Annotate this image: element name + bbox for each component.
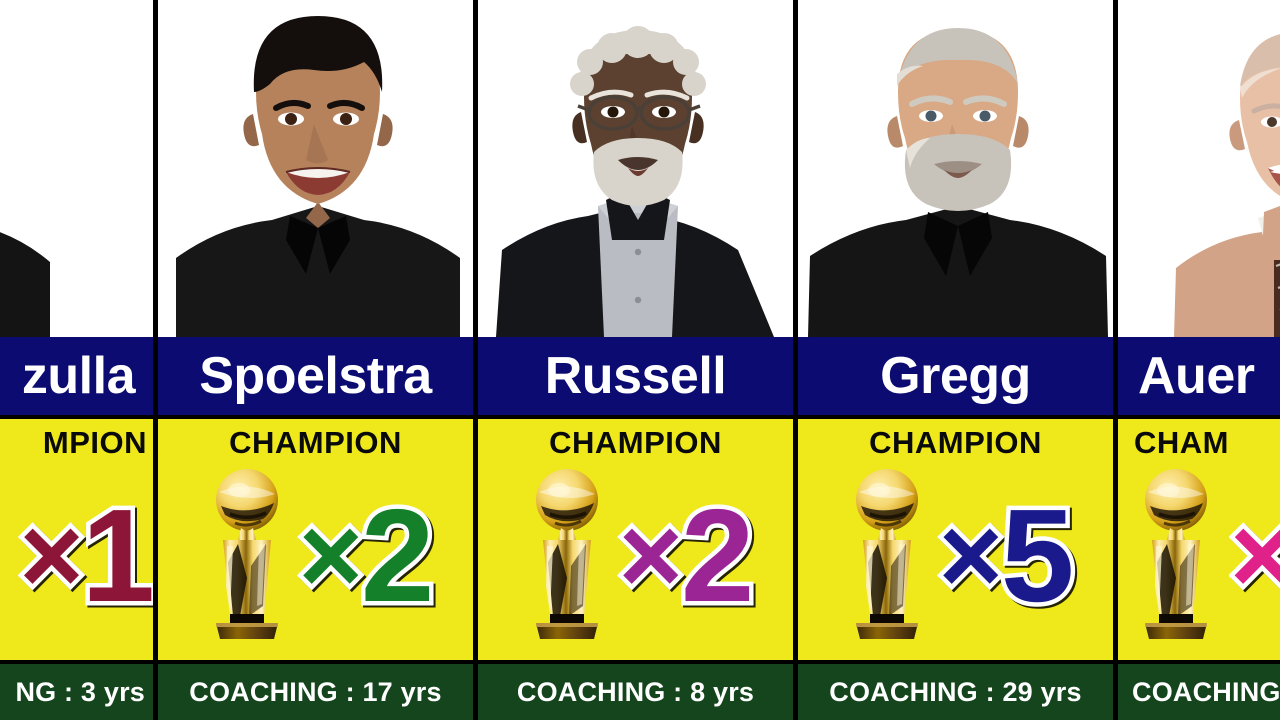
trophy-glyph [1128, 466, 1224, 646]
coach-name-spoelstra: Spoelstra [199, 350, 431, 402]
portrait-photo [798, 0, 1113, 337]
coach-photo [798, 0, 1113, 337]
portrait-russell [478, 0, 793, 337]
coaching-years-bar: COACHING [1118, 664, 1280, 720]
portrait-photo [158, 0, 473, 337]
coach-column-spoelstra[interactable]: Spoelstra CHAMPION [158, 0, 478, 720]
coach-column-popovich[interactable]: Gregg CHAMPION [798, 0, 1118, 720]
champion-block: CHAMPION [158, 419, 473, 664]
portrait-spoelstra [158, 0, 473, 337]
coaching-years-bar: COACHING : 8 yrs [478, 664, 793, 720]
champion-block: CHAMPION [798, 419, 1113, 664]
coaching-years-label-russell: COACHING : 8 yrs [517, 677, 754, 708]
coach-photo [158, 0, 473, 337]
count-number: 1 [82, 482, 153, 629]
trophy-icon-popovich [839, 466, 935, 646]
coach-name-band: Spoelstra [158, 337, 473, 419]
champion-block: MPION ×1 [0, 419, 153, 664]
coach-name-mazzulla: zulla [22, 350, 135, 402]
coach-name-band: Russell [478, 337, 793, 419]
championship-count-popovich: ×5 [939, 499, 1073, 613]
coaching-years-label-spoelstra: COACHING : 17 yrs [189, 677, 441, 708]
multiply-symbol: × [619, 494, 681, 617]
champion-label-popovich: CHAMPION [869, 427, 1042, 458]
champion-label-russell: CHAMPION [549, 427, 722, 458]
count-number: 2 [361, 482, 432, 629]
count-number: 2 [681, 482, 752, 629]
champion-label-mazzulla: MPION [43, 427, 147, 458]
championship-count-auerbach: × [1230, 499, 1280, 613]
coaching-years-label-auerbach: COACHING [1132, 677, 1280, 708]
champion-count-row: × [1118, 458, 1280, 660]
portrait-photo: CELTICS [0, 0, 153, 337]
champion-count-row: ×1 [0, 458, 153, 660]
count-number: 5 [1001, 482, 1072, 629]
coach-name-band: Auer [1118, 337, 1280, 419]
comparison-board: CELTICS zulla MPION ×1 NG : 3 yrs [0, 0, 1280, 720]
championship-count-mazzulla: ×1 [19, 499, 153, 613]
trophy-glyph [199, 466, 295, 646]
multiply-symbol: × [19, 494, 81, 617]
champion-label-auerbach: CHAM [1134, 427, 1229, 458]
champion-block: CHAM [1118, 419, 1280, 664]
portrait-photo [478, 0, 793, 337]
trophy-glyph [519, 466, 615, 646]
champion-count-row: ×2 [478, 458, 793, 660]
championship-count-russell: ×2 [619, 499, 753, 613]
portrait-photo [1118, 0, 1280, 337]
coach-name-popovich: Gregg [880, 350, 1031, 402]
coach-column-russell[interactable]: Russell CHAMPION [478, 0, 798, 720]
trophy-icon-auerbach [1128, 466, 1224, 646]
coaching-years-bar: NG : 3 yrs [0, 664, 153, 720]
champion-label-spoelstra: CHAMPION [229, 427, 402, 458]
multiply-symbol: × [939, 494, 1001, 617]
coach-photo [1118, 0, 1280, 337]
portrait-auerbach [1118, 0, 1280, 337]
coach-name-russell: Russell [545, 350, 726, 402]
trophy-icon-russell [519, 466, 615, 646]
multiply-symbol: × [299, 494, 361, 617]
champion-block: CHAMPION [478, 419, 793, 664]
coach-name-band: zulla [0, 337, 153, 419]
coach-name-auerbach: Auer [1138, 350, 1254, 402]
coaching-years-label-mazzulla: NG : 3 yrs [15, 677, 145, 708]
coach-column-auerbach[interactable]: Auer CHAM [1118, 0, 1280, 720]
coach-column-mazzulla[interactable]: CELTICS zulla MPION ×1 NG : 3 yrs [0, 0, 158, 720]
coaching-years-label-popovich: COACHING : 29 yrs [829, 677, 1081, 708]
coach-name-band: Gregg [798, 337, 1113, 419]
champion-count-row: ×2 [158, 458, 473, 660]
trophy-glyph [839, 466, 935, 646]
trophy-icon-spoelstra [199, 466, 295, 646]
coaching-years-bar: COACHING : 17 yrs [158, 664, 473, 720]
multiply-symbol: × [1230, 494, 1280, 617]
portrait-mazzulla: CELTICS [0, 0, 153, 337]
championship-count-spoelstra: ×2 [299, 499, 433, 613]
coaching-years-bar: COACHING : 29 yrs [798, 664, 1113, 720]
portrait-popovich [798, 0, 1113, 337]
coach-photo: CELTICS [0, 0, 153, 337]
coach-photo [478, 0, 793, 337]
champion-count-row: ×5 [798, 458, 1113, 660]
